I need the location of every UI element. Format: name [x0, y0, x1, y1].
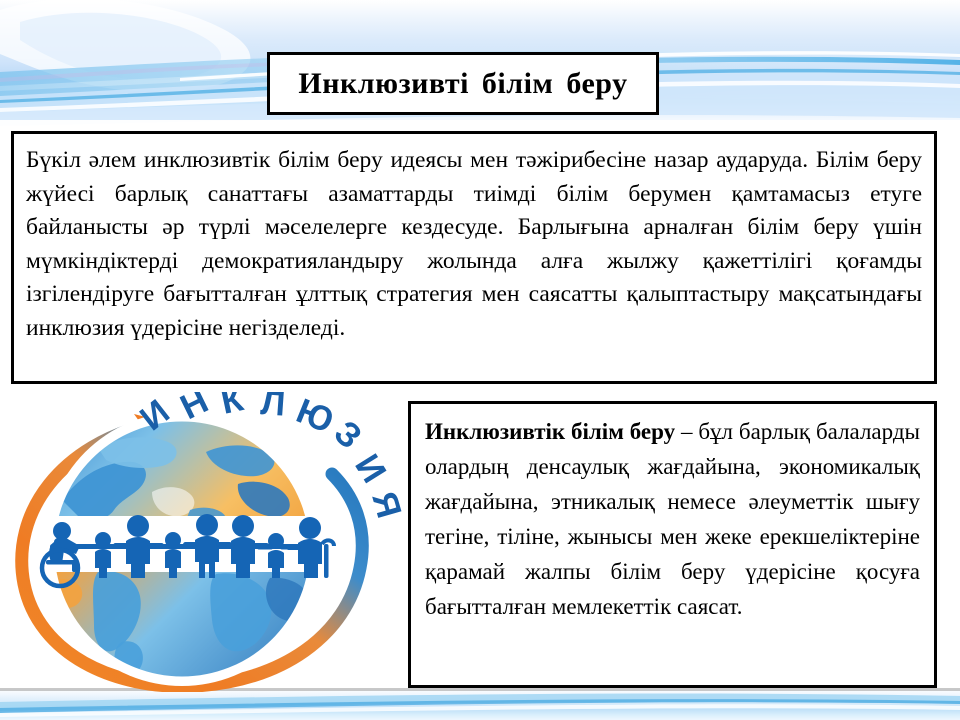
definition-term: Инклюзивтік білім беру	[425, 419, 675, 444]
inclusion-letter-3: К	[218, 392, 248, 422]
inclusion-letter-5: Ю	[291, 392, 339, 441]
inclusion-letter-7: И	[347, 448, 393, 490]
definition-box: Инклюзивтік білім беру – бұл барлық бала…	[408, 401, 937, 688]
slide-canvas: http://aida.ucoz.ru Инклюзивті білім бер…	[0, 0, 960, 720]
bottom-wave-background: http://aida.ucoz.ru	[0, 688, 960, 720]
inclusion-letter-4: Л	[259, 392, 286, 424]
intro-paragraph-text: Бүкіл әлем инклюзивтік білім беру идеясы…	[26, 144, 922, 345]
inclusion-letter-8: Я	[364, 487, 402, 522]
inclusion-logo-graphic: И Н К Л Ю З И Я	[2, 392, 402, 692]
slide-title-box: Инклюзивті білім беру	[267, 52, 659, 115]
inclusion-logo: И Н К Л Ю З И Я	[2, 392, 402, 692]
intro-paragraph-box: Бүкіл әлем инклюзивтік білім беру идеясы…	[11, 131, 937, 384]
page-title: Инклюзивті білім беру	[298, 67, 627, 101]
definition-text: Инклюзивтік білім беру – бұл барлық бала…	[425, 414, 920, 624]
bottom-wave-graphic	[0, 688, 960, 720]
definition-body: – бұл барлық балаларды олардың денсаулық…	[425, 419, 920, 619]
